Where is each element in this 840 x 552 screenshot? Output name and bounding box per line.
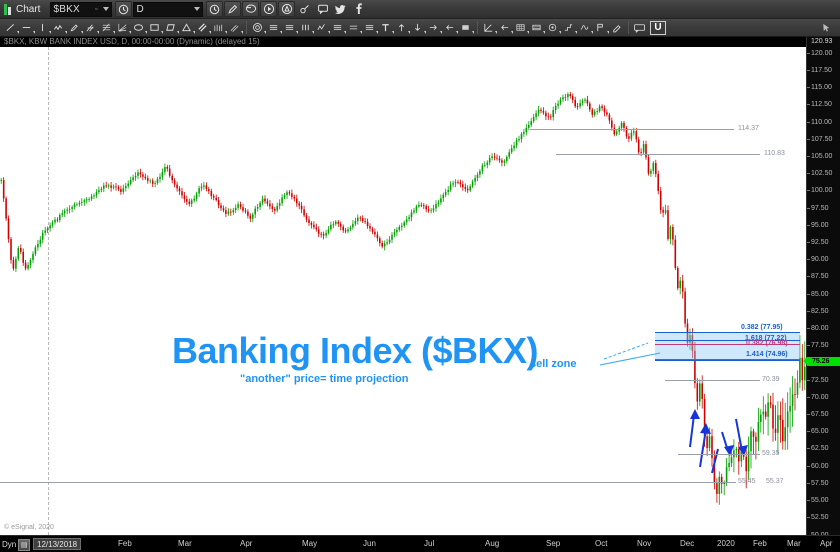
polyline-icon[interactable] bbox=[51, 20, 66, 35]
time-axis-tick: Jul bbox=[424, 539, 434, 548]
fib-level-label: 0.382 (76.98) bbox=[746, 340, 788, 347]
trendline-icon[interactable] bbox=[3, 20, 18, 35]
price-axis-tick: 92.50 bbox=[807, 238, 840, 247]
dynamic-mode-button[interactable]: Dyn ▤ bbox=[2, 538, 30, 551]
toolbar-separator bbox=[246, 21, 247, 34]
price-axis-tick: 82.50 bbox=[807, 307, 840, 316]
toolbar-separator bbox=[628, 21, 629, 34]
levels-icon[interactable] bbox=[330, 20, 345, 35]
dyn-label: Dyn bbox=[2, 540, 16, 549]
ellipse-icon[interactable] bbox=[131, 20, 146, 35]
price-level-label: 114.37 bbox=[738, 125, 759, 132]
target-icon[interactable] bbox=[545, 20, 560, 35]
chat-icon[interactable] bbox=[314, 1, 331, 17]
rows-icon[interactable] bbox=[346, 20, 361, 35]
start-date-field[interactable]: 12/13/2018 bbox=[33, 538, 81, 550]
symbol-input[interactable]: $BKX ▫ bbox=[50, 2, 112, 17]
parallelogram-icon[interactable] bbox=[163, 20, 178, 35]
price-axis-top-value: 120.93 bbox=[807, 38, 840, 46]
fib-retracement-icon[interactable] bbox=[99, 20, 114, 35]
interval-clock-icon[interactable] bbox=[206, 1, 223, 17]
table-rows-icon[interactable] bbox=[529, 20, 544, 35]
time-axis-tick: Apr bbox=[820, 539, 832, 548]
price-axis-tick: 110.00 bbox=[807, 118, 840, 127]
price-axis-tick: 105.00 bbox=[807, 152, 840, 161]
time-axis-tick: Feb bbox=[118, 539, 132, 548]
price-axis-tick: 72.50 bbox=[807, 376, 840, 385]
price-axis-tick: 90.00 bbox=[807, 255, 840, 264]
triangle-icon[interactable] bbox=[179, 20, 194, 35]
price-axis-tick: 60.00 bbox=[807, 462, 840, 471]
time-axis-tick: Oct bbox=[595, 539, 607, 548]
regression-icon[interactable] bbox=[227, 20, 242, 35]
price-axis-tick: 102.50 bbox=[807, 169, 840, 178]
zigzag-icon[interactable] bbox=[314, 20, 329, 35]
price-axis-tick: 112.50 bbox=[807, 100, 840, 109]
price-axis-tick: 117.50 bbox=[807, 66, 840, 75]
chart-plot-area[interactable]: 114.37 110.83 70.39 59.35 55.45 55.37 0.… bbox=[0, 47, 806, 535]
fib-level-line bbox=[655, 360, 800, 361]
drawing-toolbar: U bbox=[0, 19, 840, 37]
price-axis-tick: 95.00 bbox=[807, 221, 840, 230]
ray-icon[interactable] bbox=[481, 20, 496, 35]
price-level-label: 110.83 bbox=[764, 150, 785, 157]
price-level-label: 70.39 bbox=[762, 376, 780, 383]
interval-input[interactable]: D bbox=[133, 2, 203, 17]
symbol-superscript: ▫ bbox=[95, 6, 97, 13]
time-axis-tick: Mar bbox=[787, 539, 801, 548]
chart-title: Banking Index ($BKX) bbox=[172, 330, 538, 372]
time-axis-tick: Aug bbox=[485, 539, 499, 548]
horizontal-bands-icon[interactable] bbox=[266, 20, 281, 35]
price-level-line bbox=[678, 454, 760, 455]
price-axis-tick: 85.00 bbox=[807, 290, 840, 299]
fib-level-line bbox=[655, 332, 800, 333]
price-level-label: 59.35 bbox=[762, 450, 780, 457]
twitter-icon[interactable] bbox=[332, 1, 349, 17]
toolbar-row-1: Chart $BKX ▫ D bbox=[0, 0, 840, 19]
sell-zone-leader-lines bbox=[0, 47, 806, 535]
price-axis-tick: 100.00 bbox=[807, 186, 840, 195]
fib-level-label: 0.382 (77.95) bbox=[741, 324, 783, 331]
arrow-right-icon[interactable] bbox=[426, 20, 441, 35]
price-axis-tick: 115.00 bbox=[807, 83, 840, 92]
link-icon[interactable] bbox=[296, 1, 313, 17]
price-axis-tick: 70.00 bbox=[807, 393, 840, 402]
chart-subtitle: "another" price= time projection bbox=[240, 373, 408, 385]
gann-circle-icon[interactable] bbox=[250, 20, 265, 35]
bars-pattern-icon[interactable] bbox=[298, 20, 313, 35]
toolbar-separator bbox=[477, 21, 478, 34]
time-axis-tick: Nov bbox=[637, 539, 651, 548]
price-axis-tick: 65.00 bbox=[807, 427, 840, 436]
time-axis-tick: Sep bbox=[546, 539, 560, 548]
cycle-lines-icon[interactable] bbox=[211, 20, 226, 35]
symbol-value: $BKX bbox=[53, 4, 95, 15]
time-axis-tick: Apr bbox=[240, 539, 252, 548]
arrow-left-2-icon[interactable] bbox=[497, 20, 512, 35]
flag-icon[interactable] bbox=[593, 20, 608, 35]
price-level-line bbox=[556, 154, 760, 155]
price-level-line bbox=[530, 129, 734, 130]
price-level-line bbox=[0, 482, 736, 483]
price-axis-tick: 107.50 bbox=[807, 135, 840, 144]
price-axis-tick: 87.50 bbox=[807, 272, 840, 281]
calendar-icon[interactable]: ▤ bbox=[18, 539, 30, 551]
price-axis-tick: 120.00 bbox=[807, 49, 840, 58]
facebook-icon[interactable] bbox=[350, 1, 367, 17]
cursor-icon[interactable] bbox=[819, 20, 834, 35]
symbol-clock-icon[interactable] bbox=[115, 1, 132, 17]
underline-u-icon[interactable]: U bbox=[650, 21, 666, 35]
chart-status-line: $BKX, KBW BANK INDEX USD, D, 00:00-00:00… bbox=[0, 37, 840, 47]
price-axis[interactable]: 120.93 120.00117.50115.00112.50110.00107… bbox=[806, 37, 840, 535]
copyright-label: © eSignal, 2020 bbox=[4, 524, 54, 531]
andrews-pitchfork-icon[interactable] bbox=[83, 20, 98, 35]
chart-tab[interactable]: Chart bbox=[2, 4, 40, 15]
price-level-line bbox=[686, 380, 760, 381]
fib-level-label: 1.414 (74.96) bbox=[746, 351, 788, 358]
esignal-chart-window: Chart $BKX ▫ D bbox=[0, 0, 840, 552]
parallel-channel-icon[interactable] bbox=[195, 20, 210, 35]
eraser-icon[interactable] bbox=[609, 20, 624, 35]
time-axis[interactable]: Dyn ▤ 12/13/2018 FebMarAprMayJunJulAugSe… bbox=[0, 535, 840, 552]
arrow-left-icon[interactable] bbox=[442, 20, 457, 35]
grid-rows-icon[interactable] bbox=[362, 20, 377, 35]
vertical-line-icon[interactable] bbox=[35, 20, 50, 35]
pencil-icon[interactable] bbox=[224, 1, 241, 17]
price-axis-tick: 67.50 bbox=[807, 410, 840, 419]
horizontal-line-icon[interactable] bbox=[19, 20, 34, 35]
last-price-badge: 75.26 bbox=[807, 357, 840, 366]
play-circle-icon[interactable] bbox=[260, 1, 277, 17]
wave-icon[interactable] bbox=[577, 20, 592, 35]
time-axis-tick: Dec bbox=[680, 539, 694, 548]
chart-icon bbox=[4, 4, 13, 15]
arrow-down-icon[interactable] bbox=[410, 20, 425, 35]
note-icon[interactable] bbox=[632, 20, 647, 35]
arrow-up-icon[interactable] bbox=[394, 20, 409, 35]
price-level-label: 55.37 bbox=[766, 478, 784, 485]
chevron-down-icon[interactable] bbox=[194, 7, 200, 11]
price-axis-tick: 77.50 bbox=[807, 341, 840, 350]
time-axis-tick: May bbox=[302, 539, 317, 548]
chevron-down-icon[interactable] bbox=[103, 7, 109, 11]
fib-fan-icon[interactable] bbox=[115, 20, 130, 35]
candlestick-series bbox=[0, 47, 806, 535]
price-axis-tick: 57.50 bbox=[807, 479, 840, 488]
equal-bands-icon[interactable] bbox=[282, 20, 297, 35]
price-level-label: 55.45 bbox=[738, 478, 756, 485]
interval-value: D bbox=[136, 4, 194, 15]
alert-circle-icon[interactable] bbox=[278, 1, 295, 17]
stair-icon[interactable] bbox=[561, 20, 576, 35]
crosshair-vertical-line bbox=[48, 47, 49, 535]
price-axis-tick: 80.00 bbox=[807, 324, 840, 333]
text-icon[interactable] bbox=[378, 20, 393, 35]
time-axis-tick: 2020 bbox=[717, 539, 735, 548]
filled-box-icon[interactable] bbox=[458, 20, 473, 35]
price-axis-tick: 52.50 bbox=[807, 513, 840, 522]
speech-bubble-icon[interactable] bbox=[242, 1, 259, 17]
grid-icon[interactable] bbox=[513, 20, 528, 35]
time-axis-tick: Jun bbox=[363, 539, 376, 548]
time-axis-tick: Feb bbox=[753, 539, 767, 548]
rectangle-icon[interactable] bbox=[147, 20, 162, 35]
price-axis-tick: 97.50 bbox=[807, 204, 840, 213]
chart-tab-label: Chart bbox=[16, 4, 40, 15]
price-axis-tick: 55.00 bbox=[807, 496, 840, 505]
pencil-freehand-icon[interactable] bbox=[67, 20, 82, 35]
time-axis-tick: Mar bbox=[178, 539, 192, 548]
price-axis-tick: 62.50 bbox=[807, 444, 840, 453]
